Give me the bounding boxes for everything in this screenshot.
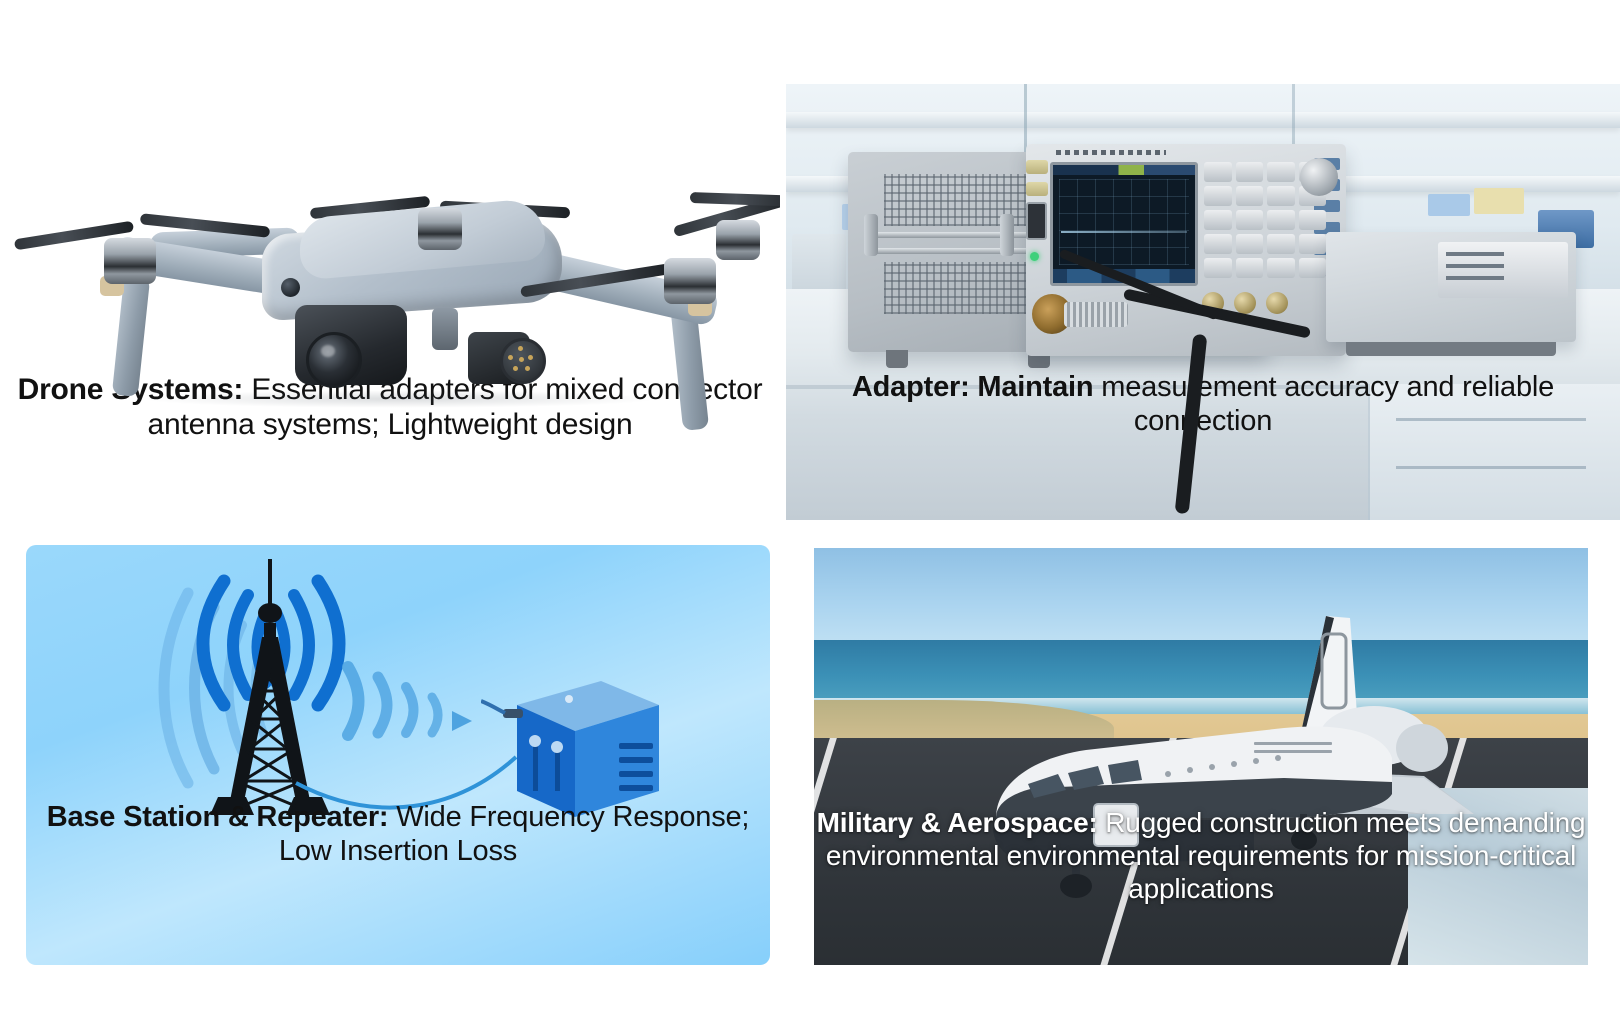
analyzer-power-led-icon (1030, 252, 1039, 261)
analyzer-button[interactable] (1026, 182, 1048, 196)
analyzer-handle (864, 214, 878, 256)
drone-motor (104, 238, 156, 284)
analyzer-front-panel (1026, 144, 1346, 356)
panel-military-aerospace: Military & Aerospace: Rugged constructio… (814, 548, 1588, 965)
shuttle-engine-bell (1396, 724, 1448, 772)
caption-base-station: Base Station & Repeater: Wide Frequency … (26, 800, 770, 868)
analyzer-brand-label (1056, 150, 1166, 155)
analyzer-foot (886, 350, 908, 368)
lab-shelf-item (1474, 188, 1524, 214)
spectrum-analyzer-chassis (848, 152, 1268, 352)
analyzer-rail (874, 232, 1044, 238)
caption-military-aerospace: Military & Aerospace: Rugged constructio… (814, 806, 1588, 905)
caption-lead: Base Station & Repeater: (47, 801, 389, 833)
signal-wave-right (348, 667, 438, 735)
caption-lead: Adapter: Maintain (852, 371, 1094, 403)
analyzer-button[interactable] (1026, 160, 1048, 174)
auxiliary-instrument (1326, 232, 1576, 342)
drone-motor (664, 258, 716, 304)
lab-shelf (786, 112, 1620, 128)
drone-shadow (140, 390, 660, 408)
analyzer-display-statusbar (1053, 165, 1195, 175)
application-grid: Drone Systems: Essential adapters for mi… (0, 0, 1620, 1015)
analyzer-rail (874, 248, 1044, 254)
panel-drone-systems: Drone Systems: Essential adapters for mi… (0, 60, 780, 500)
coaxial-adapter (1064, 302, 1128, 327)
caption-lead: Military & Aerospace: (817, 807, 1098, 838)
panel-adapter-lab: Adapter: Maintain measurement accuracy a… (786, 84, 1620, 520)
caption-body: measurement accuracy and reliable connec… (1093, 371, 1554, 437)
analyzer-display-grid (1059, 179, 1189, 265)
analyzer-rotary-knob[interactable] (1300, 158, 1338, 196)
drone-coax-adapter (432, 308, 458, 350)
analyzer-usb-port (1026, 202, 1047, 240)
drone-motor (716, 220, 760, 260)
analyzer-display-trace (1061, 231, 1187, 233)
analyzer-vent (884, 262, 1032, 314)
panel-base-station-repeater: Base Station & Repeater: Wide Frequency … (26, 545, 770, 965)
signal-arrow (452, 711, 472, 731)
caption-adapter: Adapter: Maintain measurement accuracy a… (786, 370, 1620, 438)
auxiliary-instrument-panel (1438, 242, 1568, 298)
auxiliary-instrument-base (1346, 342, 1556, 356)
drone-forward-sensor-icon (281, 278, 300, 297)
drone-illustration (0, 60, 780, 390)
drone-motor (418, 208, 462, 250)
drone-propeller-blade (690, 192, 780, 207)
analyzer-handle (1000, 214, 1014, 256)
analyzer-display (1050, 162, 1198, 286)
lab-shelf-item (1428, 194, 1470, 216)
repeater-antenna-connector (481, 701, 523, 718)
drone-connector-pins (500, 338, 546, 384)
drone-camera-lens (306, 332, 362, 388)
